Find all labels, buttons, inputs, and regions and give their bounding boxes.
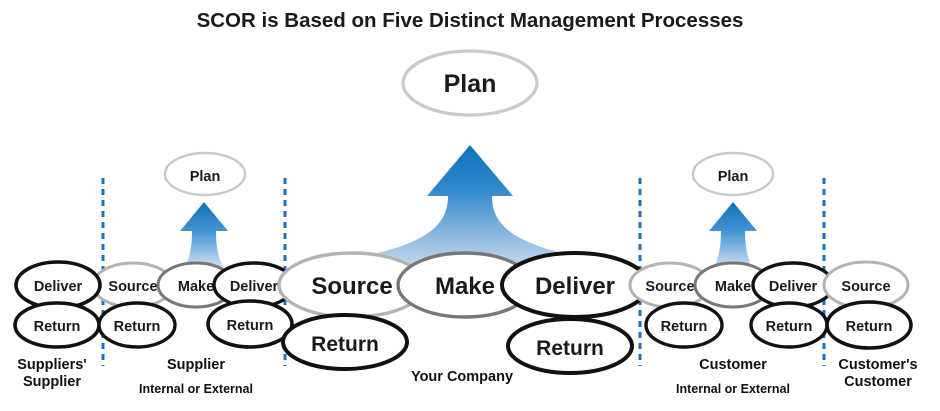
node-label: Make [715, 279, 751, 295]
node-label: Make [435, 273, 495, 300]
lane-label-line2: Customer [844, 374, 912, 390]
plan-customer-label: Plan [718, 169, 749, 185]
lane-label-line1: Customer's [838, 357, 917, 373]
plan-center[interactable]: Plan [403, 51, 537, 115]
node-return-company-out[interactable]: Return [508, 319, 632, 373]
node-label: Return [311, 333, 379, 356]
plan-supplier-label: Plan [190, 169, 221, 185]
lane-sublabel: Internal or External [676, 382, 790, 396]
node-label: Deliver [535, 273, 615, 300]
page-title: SCOR is Based on Five Distinct Managemen… [197, 9, 744, 32]
scor-diagram: SCOR is Based on Five Distinct Managemen… [0, 0, 940, 411]
node-label: Source [311, 273, 392, 300]
plan-supplier[interactable]: Plan [165, 153, 245, 195]
node-return-supplier-out[interactable]: Return [208, 301, 292, 347]
node-label: Return [227, 318, 274, 334]
node-label: Source [108, 279, 157, 295]
lane-customer: Customer Internal or External [676, 357, 790, 396]
node-label: Source [841, 279, 890, 295]
node-label: Return [846, 319, 893, 335]
lane-suppliers-supplier: Suppliers' Supplier [17, 357, 87, 390]
lane-label-line2: Supplier [23, 374, 81, 390]
node-deliver-company[interactable]: Deliver [502, 253, 648, 317]
node-label: Return [536, 337, 604, 360]
lane-sublabel: Internal or External [139, 382, 253, 396]
node-deliver-customer[interactable]: Deliver [753, 263, 833, 307]
node-label: Source [645, 279, 694, 295]
lane-label-line1: Supplier [167, 357, 225, 373]
node-label: Return [766, 319, 813, 335]
node-label: Return [34, 319, 81, 335]
node-return-customer-out[interactable]: Return [751, 303, 827, 347]
node-label: Deliver [34, 279, 83, 295]
plan-center-label: Plan [444, 70, 497, 98]
lane-your-company: Your Company [411, 369, 513, 385]
node-return-supplier-in[interactable]: Return [99, 303, 175, 347]
node-return-suppliers-supplier[interactable]: Return [15, 303, 99, 347]
node-label: Return [661, 319, 708, 335]
node-label: Make [178, 279, 214, 295]
node-label: Deliver [230, 279, 279, 295]
node-label: Deliver [769, 279, 818, 295]
node-return-customer-in[interactable]: Return [646, 303, 722, 347]
node-label: Return [114, 319, 161, 335]
lane-customers-customer: Customer's Customer [838, 357, 917, 390]
node-return-customers-customer[interactable]: Return [827, 302, 911, 348]
node-return-company-in[interactable]: Return [283, 315, 407, 369]
lane-label-line1: Your Company [411, 369, 513, 385]
lane-supplier: Supplier Internal or External [139, 357, 253, 396]
scor-diagram-canvas: SCOR is Based on Five Distinct Managemen… [0, 0, 940, 411]
lane-label-line1: Suppliers' [17, 357, 87, 373]
plan-customer[interactable]: Plan [693, 153, 773, 195]
node-deliver-suppliers-supplier[interactable]: Deliver [16, 262, 100, 308]
lane-label-line1: Customer [699, 357, 767, 373]
